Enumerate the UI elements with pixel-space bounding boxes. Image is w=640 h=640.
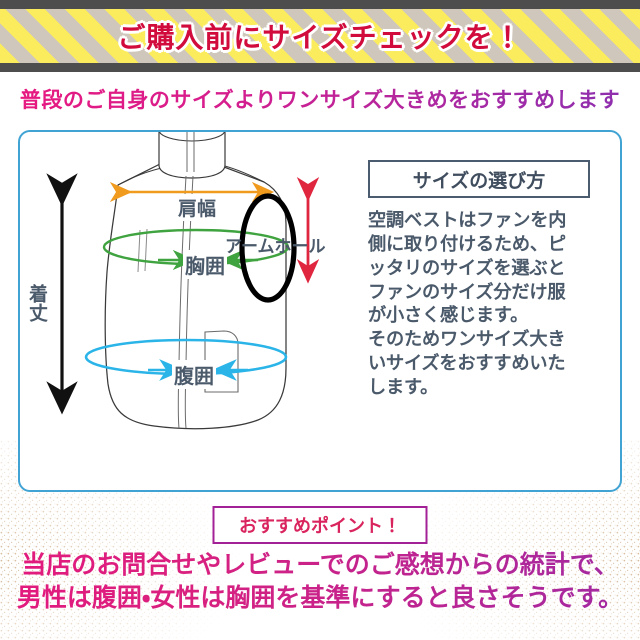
info-title: サイズの選び方 bbox=[368, 160, 590, 198]
info-line: が小さく感じます。 bbox=[368, 304, 600, 328]
footer-line: 男性は腹囲・女性は胸囲を基準にすると良さそうです。 bbox=[0, 582, 640, 615]
info-line: します。 bbox=[368, 376, 600, 400]
info-body: 空調ベストはファンを内 側に取り付けるため、ピ ッタリのサイズを選ぶと ファンの… bbox=[368, 209, 600, 400]
recommend-footer: 当店のお問合せやレビューでのご感想からの統計で、 男性は腹囲・女性は胸囲を基準に… bbox=[0, 549, 640, 615]
header-banner: ご購入前にサイズチェックを！ bbox=[0, 0, 640, 72]
label-chest: 胸囲 bbox=[183, 250, 227, 279]
recommend-badge: おすすめポイント！ bbox=[213, 506, 428, 544]
footer-line: 当店のお問合せやレビューでのご感想からの統計で、 bbox=[0, 549, 640, 582]
vest-measurement-diagram: 肩幅 アームホール 胸囲 腹囲 着丈 bbox=[20, 132, 370, 488]
banner-bottom-bar bbox=[0, 63, 640, 72]
size-selection-info: サイズの選び方 空調ベストはファンを内 側に取り付けるため、ピ ッタリのサイズを… bbox=[368, 160, 614, 400]
banner-title: ご購入前にサイズチェックを！ bbox=[0, 9, 640, 63]
label-armhole: アームホール bbox=[225, 232, 325, 257]
banner-top-bar bbox=[0, 0, 640, 9]
subtitle-text: 普段のご自身のサイズよりワンサイズ大きめをおすすめします bbox=[0, 82, 640, 116]
info-line: そのためワンサイズ大き bbox=[368, 328, 600, 352]
info-line: 空調ベストはファンを内 bbox=[368, 209, 600, 233]
info-line: ッタリのサイズを選ぶと bbox=[368, 257, 600, 281]
label-shoulder: 肩幅 bbox=[175, 194, 219, 221]
label-waist: 腹囲 bbox=[172, 360, 216, 389]
vest-collar bbox=[159, 132, 225, 178]
label-length: 着丈 bbox=[26, 284, 46, 322]
info-line: 側に取り付けるため、ピ bbox=[368, 233, 600, 257]
info-line: ファンのサイズ分だけ服 bbox=[368, 281, 600, 305]
size-guide-infographic: ご購入前にサイズチェックを！ 普段のご自身のサイズよりワンサイズ大きめをおすすめ… bbox=[0, 0, 640, 640]
info-line: いサイズをおすすめいた bbox=[368, 352, 600, 376]
